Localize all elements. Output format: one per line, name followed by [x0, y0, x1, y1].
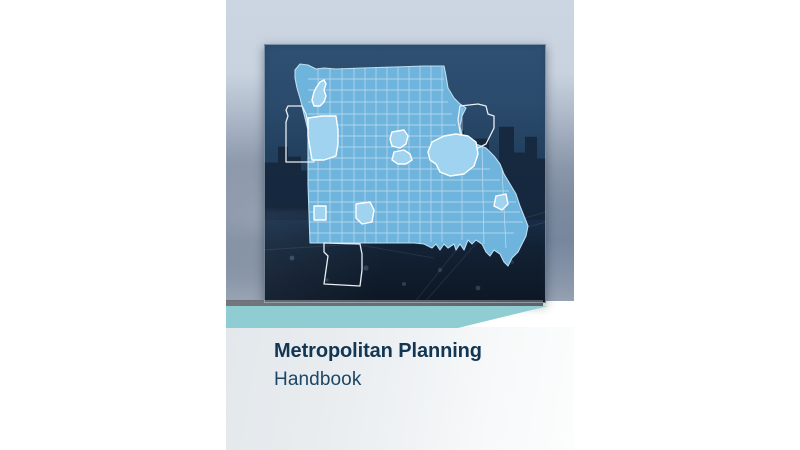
cover-map-card — [264, 44, 546, 303]
letterbox-right — [574, 0, 800, 450]
screenshot-stage: Metropolitan Planning Handbook — [0, 0, 800, 450]
cover-title-block: Metropolitan Planning Handbook — [274, 340, 564, 392]
springfield-mpo — [356, 202, 374, 224]
letterbox-left — [0, 0, 226, 450]
missouri-state-map — [264, 44, 546, 303]
page-title: Metropolitan Planning — [274, 340, 564, 363]
joplin-mpo — [314, 206, 326, 220]
page-subtitle: Handbook — [274, 369, 564, 392]
columbia-mpo — [390, 130, 408, 148]
accent-band — [226, 306, 548, 328]
arkansas-side-overlay — [324, 243, 362, 286]
document-cover-page: Metropolitan Planning Handbook — [226, 0, 574, 450]
map-card-shadow — [226, 300, 543, 306]
kansas-city-mpo — [308, 116, 338, 160]
